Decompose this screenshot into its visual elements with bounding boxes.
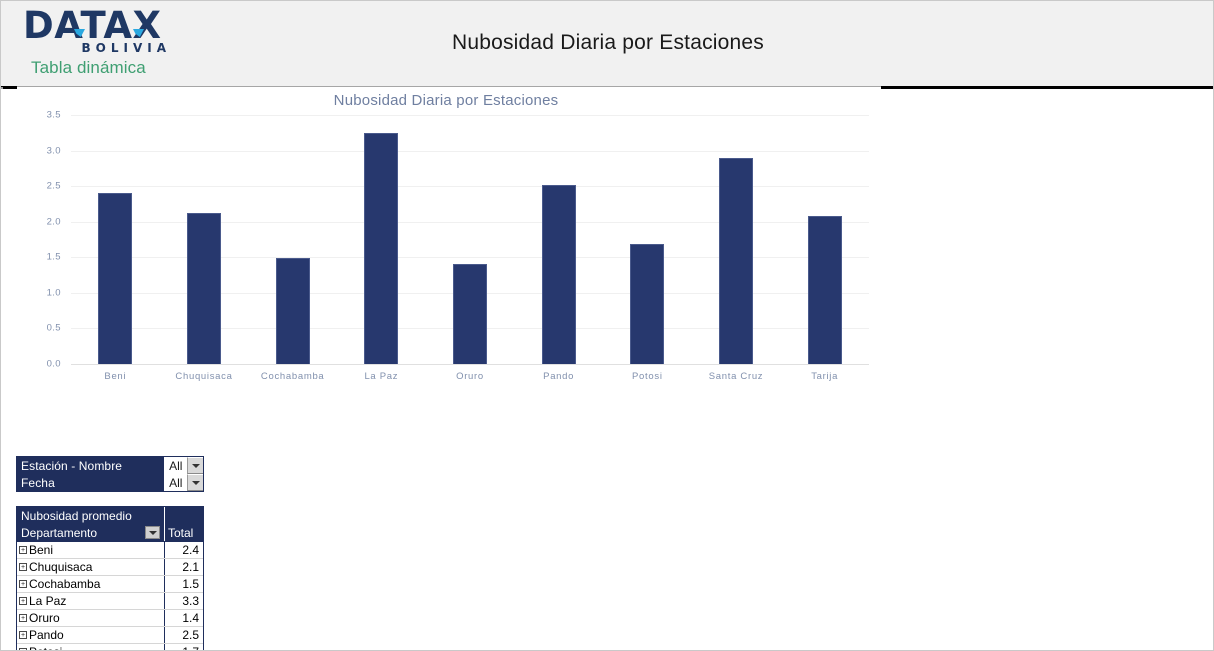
pivot-field-label: Departamento bbox=[21, 526, 97, 540]
y-axis-tick-label: 0.0 bbox=[1, 359, 61, 370]
expand-icon[interactable]: + bbox=[19, 614, 27, 622]
expand-icon[interactable]: + bbox=[19, 580, 27, 588]
pivot-row-label: Oruro bbox=[29, 611, 60, 625]
pivot-filter-label: Fecha bbox=[17, 474, 163, 491]
pivot-column-header-total: Total bbox=[164, 524, 203, 541]
pivot-row-total: 1.4 bbox=[164, 610, 203, 626]
y-axis-tick-label: 2.5 bbox=[1, 181, 61, 192]
table-row: +La Paz3.3 bbox=[17, 592, 203, 609]
chart-bar[interactable] bbox=[719, 158, 753, 364]
chevron-down-icon bbox=[149, 531, 157, 535]
y-axis-tick-label: 1.0 bbox=[1, 287, 61, 298]
chart-plot-area: 0.00.51.01.52.02.53.03.5BeniChuquisacaCo… bbox=[71, 115, 869, 364]
pivot-row-label: Chuquisaca bbox=[29, 560, 92, 574]
x-axis-tick-label: Oruro bbox=[456, 371, 484, 382]
chevron-down-icon bbox=[192, 481, 200, 485]
expand-icon[interactable]: + bbox=[19, 563, 27, 571]
y-axis-tick-label: 3.0 bbox=[1, 145, 61, 156]
chevron-down-icon bbox=[192, 464, 200, 468]
header-divider-accent-right bbox=[881, 86, 1213, 89]
pivot-row-label: Pando bbox=[29, 628, 64, 642]
chart-bar[interactable] bbox=[808, 216, 842, 364]
logo-subtitle: Tabla dinámica bbox=[31, 59, 343, 76]
pivot-body: +Beni2.4+Chuquisaca2.1+Cochabamba1.5+La … bbox=[17, 541, 203, 651]
y-axis-tick-label: 2.0 bbox=[1, 216, 61, 227]
pivot-row-label-cell: +Pando bbox=[17, 627, 164, 643]
pivot-column-header-departamento: Departamento bbox=[17, 524, 164, 541]
chart-bar[interactable] bbox=[98, 193, 132, 364]
pivot-filter-value[interactable]: All bbox=[163, 474, 187, 491]
pivot-row-label: Beni bbox=[29, 543, 53, 557]
chart-bar[interactable] bbox=[542, 185, 576, 364]
table-row: +Beni2.4 bbox=[17, 541, 203, 558]
chart-bar[interactable] bbox=[630, 244, 664, 364]
pivot-row-label: Potosi bbox=[29, 645, 62, 651]
dashboard-page: DATAX BOLIVIA Tabla dinámica Nubosidad D… bbox=[0, 0, 1214, 651]
expand-icon[interactable]: + bbox=[19, 546, 27, 554]
pivot-header-row: Departamento Total bbox=[17, 524, 203, 541]
x-axis-tick-label: Tarija bbox=[811, 371, 838, 382]
y-axis-tick-label: 1.5 bbox=[1, 252, 61, 263]
pivot-filter-dropdown-button[interactable] bbox=[187, 457, 203, 474]
table-row: +Cochabamba1.5 bbox=[17, 575, 203, 592]
chart-gridline bbox=[71, 364, 869, 365]
chart-bar[interactable] bbox=[187, 213, 221, 364]
chart-title: Nubosidad Diaria por Estaciones bbox=[1, 92, 891, 109]
x-axis-tick-label: La Paz bbox=[364, 371, 398, 382]
table-row: +Chuquisaca2.1 bbox=[17, 558, 203, 575]
chart-bar[interactable] bbox=[276, 258, 310, 364]
header-band: DATAX BOLIVIA Tabla dinámica Nubosidad D… bbox=[1, 1, 1214, 86]
pivot-row-total: 3.3 bbox=[164, 593, 203, 609]
pivot-row-label-cell: +La Paz bbox=[17, 593, 164, 609]
pivot-filter-dropdown-button[interactable] bbox=[187, 474, 203, 491]
pivot-row-total: 2.4 bbox=[164, 542, 203, 558]
pivot-filter-value[interactable]: All bbox=[163, 457, 187, 474]
pivot-title-row: Nubosidad promedio bbox=[17, 507, 203, 524]
pivot-table: Nubosidad promedio Departamento Total +B… bbox=[16, 506, 204, 651]
pivot-row-label: Cochabamba bbox=[29, 577, 100, 591]
chart-gridline bbox=[71, 151, 869, 152]
y-axis-tick-label: 0.5 bbox=[1, 323, 61, 334]
pivot-row-total: 2.1 bbox=[164, 559, 203, 575]
table-row: +Pando2.5 bbox=[17, 626, 203, 643]
pivot-row-label-cell: +Cochabamba bbox=[17, 576, 164, 592]
x-axis-tick-label: Chuquisaca bbox=[175, 371, 232, 382]
expand-icon[interactable]: + bbox=[19, 631, 27, 639]
pivot-row-label: La Paz bbox=[29, 594, 66, 608]
x-axis-tick-label: Pando bbox=[543, 371, 574, 382]
chart-gridline bbox=[71, 115, 869, 116]
chart-bar[interactable] bbox=[453, 264, 487, 364]
pivot-row-total: 2.5 bbox=[164, 627, 203, 643]
pivot-filter-panel: Estación - NombreAllFechaAll bbox=[16, 456, 204, 492]
pivot-filter-row: FechaAll bbox=[17, 474, 203, 491]
x-axis-tick-label: Cochabamba bbox=[261, 371, 325, 382]
pivot-field-filter-button[interactable] bbox=[145, 526, 160, 539]
pivot-filter-label: Estación - Nombre bbox=[17, 457, 163, 474]
pivot-filter-row: Estación - NombreAll bbox=[17, 457, 203, 474]
pivot-row-label-cell: +Potosi bbox=[17, 644, 164, 651]
x-axis-tick-label: Beni bbox=[104, 371, 126, 382]
table-row: +Oruro1.4 bbox=[17, 609, 203, 626]
x-axis-tick-label: Potosi bbox=[632, 371, 663, 382]
expand-icon[interactable]: + bbox=[19, 597, 27, 605]
y-axis-tick-label: 3.5 bbox=[1, 110, 61, 121]
pivot-row-total: 1.5 bbox=[164, 576, 203, 592]
pivot-title: Nubosidad promedio bbox=[17, 507, 164, 524]
bar-chart: Nubosidad Diaria por Estaciones 0.00.51.… bbox=[1, 89, 891, 397]
table-row: +Potosi1.7 bbox=[17, 643, 203, 651]
pivot-row-label-cell: +Oruro bbox=[17, 610, 164, 626]
page-title: Nubosidad Diaria por Estaciones bbox=[1, 31, 1214, 55]
chart-bar[interactable] bbox=[364, 133, 398, 364]
pivot-row-label-cell: +Chuquisaca bbox=[17, 559, 164, 575]
pivot-row-total: 1.7 bbox=[164, 644, 203, 651]
pivot-row-label-cell: +Beni bbox=[17, 542, 164, 558]
pivot-title-blank-cell bbox=[164, 507, 203, 524]
x-axis-tick-label: Santa Cruz bbox=[709, 371, 764, 382]
